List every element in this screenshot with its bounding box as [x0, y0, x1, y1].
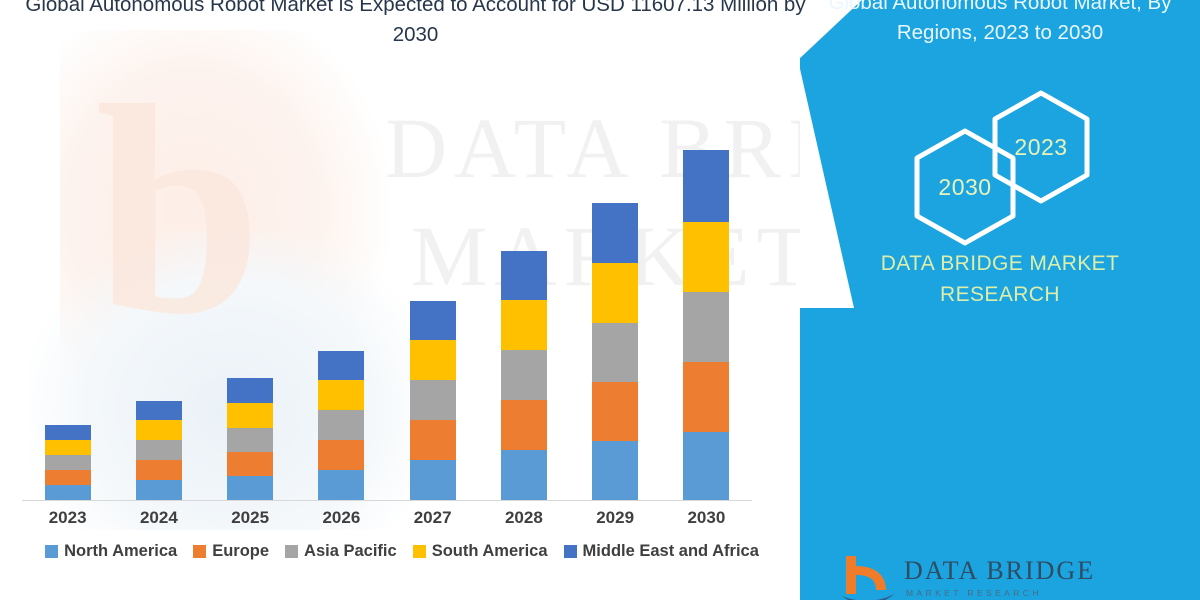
bar-segment[interactable] [318, 380, 364, 410]
bar-segment[interactable] [592, 323, 638, 382]
bar-slot-2028 [478, 60, 569, 500]
stacked-bar-2030[interactable] [683, 150, 729, 500]
x-axis-labels: 20232024202520262027202820292030 [22, 508, 752, 532]
bar-segment[interactable] [592, 263, 638, 323]
legend-swatch-icon [193, 545, 206, 558]
bar-slot-2027 [387, 60, 478, 500]
legend-label: Asia Pacific [304, 542, 397, 561]
legend-swatch-icon [413, 545, 426, 558]
bar-segment[interactable] [683, 432, 729, 500]
hexagon-group: 2023 2030 [800, 78, 1200, 223]
bar-segment[interactable] [501, 400, 547, 450]
stacked-bar-2026[interactable] [318, 351, 364, 500]
bar-segment[interactable] [318, 470, 364, 500]
bar-segment[interactable] [45, 455, 91, 470]
bar-segment[interactable] [501, 300, 547, 350]
stacked-bar-2029[interactable] [592, 203, 638, 500]
chart-panel: b DATA BRIDGE MARKET RESEARCH Global Aut… [0, 0, 830, 600]
legend-label: North America [64, 542, 177, 561]
bar-segment[interactable] [318, 351, 364, 380]
company-logo: DATA BRIDGE MARKET RESEARCH [840, 544, 1100, 600]
bar-segment[interactable] [227, 476, 273, 500]
bar-segment[interactable] [501, 450, 547, 500]
bar-segment[interactable] [227, 428, 273, 452]
hexagon-2030-label: 2030 [938, 174, 991, 201]
bar-segment[interactable] [683, 150, 729, 222]
brand-name-line2: RESEARCH [820, 279, 1180, 310]
bar-slot-2025 [205, 60, 296, 500]
bar-segment[interactable] [136, 480, 182, 500]
hexagon-2023-label: 2023 [1014, 134, 1067, 161]
bar-segment[interactable] [410, 420, 456, 460]
logo-tagline: MARKET RESEARCH [906, 588, 1042, 598]
bar-segment[interactable] [318, 440, 364, 470]
bar-segment[interactable] [592, 382, 638, 441]
legend-swatch-icon [564, 545, 577, 558]
bar-slot-2026 [296, 60, 387, 500]
bar-segment[interactable] [683, 292, 729, 362]
bar-segment[interactable] [136, 460, 182, 480]
x-axis-label: 2030 [661, 508, 752, 532]
chart-title: Global Autonomous Robot Market is Expect… [18, 0, 813, 50]
legend-item[interactable]: North America [45, 542, 177, 561]
bar-segment[interactable] [683, 362, 729, 432]
bar-segment[interactable] [227, 378, 273, 403]
stacked-bar-2025[interactable] [227, 378, 273, 500]
bar-segment[interactable] [227, 452, 273, 476]
logo-wordmark: DATA BRIDGE [904, 556, 1095, 586]
x-axis-label: 2029 [570, 508, 661, 532]
bar-slot-2023 [22, 60, 113, 500]
bar-segment[interactable] [45, 485, 91, 500]
logo-mark-icon [840, 550, 896, 600]
stacked-bar-2023[interactable] [45, 425, 91, 500]
legend-item[interactable]: Middle East and Africa [564, 542, 759, 561]
bar-segment[interactable] [410, 460, 456, 500]
x-axis-line [22, 500, 752, 501]
x-axis-label: 2027 [387, 508, 478, 532]
x-axis-label: 2025 [205, 508, 296, 532]
chart-legend: North AmericaEuropeAsia PacificSouth Ame… [22, 538, 782, 564]
bar-segment[interactable] [410, 301, 456, 340]
x-axis-label: 2028 [478, 508, 569, 532]
legend-label: South America [432, 542, 548, 561]
infographic-page: b DATA BRIDGE MARKET RESEARCH Global Aut… [0, 0, 1200, 600]
stacked-bars-group [22, 60, 752, 500]
bar-segment[interactable] [136, 420, 182, 440]
bar-segment[interactable] [410, 380, 456, 420]
bar-slot-2029 [570, 60, 661, 500]
bar-segment[interactable] [227, 403, 273, 428]
brand-panel-title: Global Autonomous Robot Market, By Regio… [810, 0, 1190, 48]
bar-segment[interactable] [45, 440, 91, 455]
bar-segment[interactable] [501, 251, 547, 300]
bar-segment[interactable] [683, 222, 729, 292]
legend-swatch-icon [45, 545, 58, 558]
legend-label: Europe [212, 542, 269, 561]
hexagon-2030: 2030 [910, 126, 1020, 248]
legend-swatch-icon [285, 545, 298, 558]
stacked-bar-2027[interactable] [410, 301, 456, 500]
bar-slot-2030 [661, 60, 752, 500]
chart-plot-area [22, 60, 752, 501]
bar-segment[interactable] [136, 440, 182, 460]
stacked-bar-2024[interactable] [136, 401, 182, 500]
stacked-bar-2028[interactable] [501, 251, 547, 500]
bar-segment[interactable] [410, 340, 456, 380]
x-axis-label: 2024 [113, 508, 204, 532]
bar-segment[interactable] [501, 350, 547, 400]
legend-label: Middle East and Africa [583, 542, 759, 561]
bar-segment[interactable] [45, 425, 91, 440]
bar-segment[interactable] [136, 401, 182, 420]
bar-slot-2024 [113, 60, 204, 500]
bar-segment[interactable] [592, 441, 638, 500]
brand-name-line1: DATA BRIDGE MARKET [820, 248, 1180, 279]
bar-segment[interactable] [318, 410, 364, 440]
bar-segment[interactable] [592, 203, 638, 263]
x-axis-label: 2026 [296, 508, 387, 532]
brand-name: DATA BRIDGE MARKET RESEARCH [820, 248, 1180, 310]
brand-panel: Global Autonomous Robot Market, By Regio… [800, 0, 1200, 600]
legend-item[interactable]: Europe [193, 542, 269, 561]
bar-segment[interactable] [45, 470, 91, 485]
x-axis-label: 2023 [22, 508, 113, 532]
legend-item[interactable]: South America [413, 542, 548, 561]
legend-item[interactable]: Asia Pacific [285, 542, 397, 561]
